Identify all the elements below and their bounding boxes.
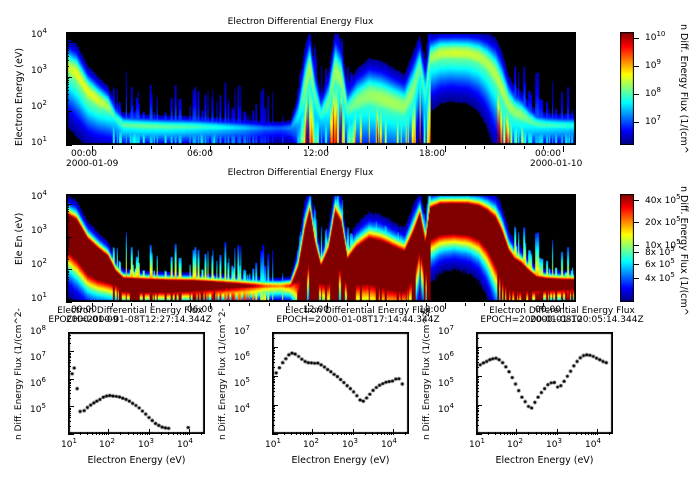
spectrum-2-xtick-1: 101	[265, 440, 281, 450]
axis-tick	[476, 429, 477, 435]
axis-tick	[269, 146, 270, 149]
axis-tick	[272, 425, 275, 426]
axis-tick	[476, 362, 479, 363]
axis-tick	[476, 417, 479, 418]
axis-tick	[149, 429, 150, 435]
axis-tick	[99, 432, 100, 435]
axis-tick	[66, 242, 69, 243]
axis-tick	[476, 356, 479, 357]
axis-tick	[66, 42, 72, 43]
axis-tick	[272, 396, 275, 397]
axis-tick	[68, 417, 71, 418]
axis-tick	[504, 432, 505, 435]
axis-tick	[595, 432, 596, 435]
axis-tick	[367, 146, 368, 149]
spectrum-3-xtick-1: 101	[469, 440, 485, 450]
axis-tick	[128, 432, 129, 435]
axis-tick	[563, 303, 564, 309]
axis-tick	[476, 367, 479, 368]
axis-tick	[68, 393, 71, 394]
axis-tick	[66, 211, 69, 212]
axis-tick	[68, 371, 71, 372]
axis-tick	[445, 303, 446, 309]
axis-tick	[291, 432, 292, 435]
spectrum-3-xtick-3: 103	[546, 440, 562, 450]
axis-tick	[288, 146, 289, 149]
axis-tick	[272, 406, 275, 407]
top-xtick-4: 00:00	[535, 149, 561, 159]
spectrum-2-ylabel: n Diff. Energy Flux (1/(cm^2-	[218, 308, 228, 440]
spectrum-3-ylabel: n Diff. Energy Flux (1/(cm^2-	[422, 308, 432, 440]
spectrum-1-epoch: EPOCH=2000-01-08T12:27:14.344Z	[20, 315, 240, 325]
axis-tick	[476, 376, 482, 377]
axis-tick	[609, 432, 610, 435]
axis-tick	[68, 409, 71, 410]
axis-tick	[327, 146, 328, 152]
top-xtick-2: 12:00	[303, 149, 329, 159]
axis-tick	[108, 429, 109, 435]
axis-tick	[112, 303, 113, 306]
axis-tick	[597, 429, 598, 435]
spectrum-3-plot[interactable]	[476, 332, 613, 434]
axis-tick	[66, 111, 72, 112]
middle-cbar-tick-6: 6x 105	[645, 260, 675, 270]
axis-tick	[476, 408, 479, 409]
axis-tick	[327, 303, 328, 309]
axis-tick	[68, 360, 71, 361]
axis-tick	[272, 411, 275, 412]
axis-tick	[272, 333, 275, 334]
middle-cbar-tick-4: 4x 105	[645, 274, 675, 284]
axis-tick	[66, 207, 69, 208]
axis-tick	[145, 432, 146, 435]
axis-tick	[476, 414, 479, 415]
axis-tick	[476, 352, 479, 353]
axis-tick	[272, 352, 275, 353]
axis-tick	[68, 426, 71, 427]
top-colorbar	[620, 32, 634, 145]
axis-tick	[68, 413, 71, 414]
axis-tick	[66, 118, 69, 119]
axis-tick	[92, 432, 93, 435]
axis-tick	[92, 303, 93, 309]
top-cbar-tick-10: 1010	[645, 33, 665, 43]
axis-tick	[161, 432, 162, 435]
axis-tick	[66, 112, 69, 113]
axis-tick	[476, 353, 479, 354]
axis-tick	[68, 380, 71, 381]
axis-tick	[210, 146, 211, 152]
axis-tick	[634, 278, 639, 279]
axis-tick	[367, 303, 368, 306]
axis-tick	[68, 390, 71, 391]
axis-tick	[106, 432, 107, 435]
middle-cbar-label-wrap: n Diff. Energy Flux (1/(cm^	[689, 186, 697, 197]
axis-tick	[66, 129, 69, 130]
top-ytick-3: 103	[31, 66, 47, 76]
axis-tick	[524, 146, 525, 149]
axis-tick	[68, 357, 71, 358]
axis-tick	[66, 221, 69, 222]
axis-tick	[465, 146, 466, 149]
axis-tick	[66, 66, 69, 67]
axis-tick	[332, 432, 333, 435]
axis-tick	[66, 269, 72, 270]
axis-tick	[576, 432, 577, 435]
top-cbar-tick-7: 107	[645, 117, 661, 127]
middle-spectrogram[interactable]	[66, 194, 576, 302]
axis-tick	[66, 135, 69, 136]
axis-tick	[272, 377, 275, 378]
axis-tick	[476, 338, 479, 339]
spectrum-1-xtick-3: 103	[138, 440, 154, 450]
axis-tick	[229, 146, 230, 149]
axis-tick	[68, 385, 71, 386]
axis-tick	[543, 146, 544, 149]
axis-tick	[484, 303, 485, 306]
axis-tick	[131, 303, 132, 306]
axis-tick	[66, 78, 69, 79]
axis-tick	[66, 100, 69, 101]
axis-tick	[68, 353, 71, 354]
axis-tick	[476, 410, 479, 411]
axis-tick	[303, 432, 304, 435]
spectrum-3-epoch: EPOCH=2000-01-08T20:05:14.344Z	[452, 315, 672, 325]
spectrum-2-xtick-4: 104	[381, 440, 397, 450]
axis-tick	[476, 377, 479, 378]
axis-tick	[171, 146, 172, 149]
axis-tick	[66, 204, 72, 205]
axis-tick	[66, 274, 69, 275]
axis-tick	[557, 429, 558, 435]
axis-tick	[349, 432, 350, 435]
axis-tick	[272, 388, 275, 389]
axis-tick	[351, 432, 352, 435]
middle-cbar-label: n Diff. Energy Flux (1/(cm^	[678, 186, 689, 316]
spectrum-1-ylabel-wrap: n Diff. Energy Flux (1/(cm^2-	[14, 440, 146, 450]
axis-tick	[634, 200, 639, 201]
middle-ytick-4: 104	[31, 192, 47, 202]
axis-tick	[272, 353, 275, 354]
spectrum-2-xtick-3: 103	[342, 440, 358, 450]
axis-tick	[300, 432, 301, 435]
axis-tick	[68, 411, 71, 412]
axis-tick	[634, 222, 639, 223]
axis-tick	[249, 146, 250, 149]
axis-tick	[324, 432, 325, 435]
axis-tick	[406, 303, 407, 306]
axis-tick	[306, 432, 307, 435]
axis-tick	[68, 408, 71, 409]
spectrum-1-xtick-1: 101	[61, 440, 77, 450]
axis-tick	[634, 252, 639, 253]
spectrum-3-xtick-4: 104	[585, 440, 601, 450]
middle-cbar-tick-40: 40x 105	[645, 196, 681, 206]
axis-tick	[634, 94, 639, 95]
axis-tick	[229, 303, 230, 306]
spectrum-1-ytick-8: 108	[30, 327, 46, 337]
axis-tick	[476, 425, 479, 426]
axis-tick	[524, 303, 525, 306]
axis-tick	[137, 432, 138, 435]
top-spectrogram[interactable]	[66, 32, 576, 145]
axis-tick	[102, 432, 103, 435]
axis-tick	[272, 410, 275, 411]
axis-tick	[426, 146, 427, 149]
axis-tick	[87, 432, 88, 435]
axis-tick	[593, 432, 594, 435]
axis-tick	[591, 432, 592, 435]
axis-tick	[284, 432, 285, 435]
axis-tick	[310, 432, 311, 435]
spectrum-2-ytick-7: 107	[234, 327, 250, 337]
axis-tick	[272, 379, 275, 380]
axis-tick	[68, 338, 71, 339]
axis-tick	[500, 432, 501, 435]
axis-tick	[66, 292, 69, 293]
axis-tick	[133, 432, 134, 435]
spectrum-1-xtick-4: 104	[177, 440, 193, 450]
axis-tick	[66, 209, 69, 210]
axis-tick	[272, 417, 275, 418]
axis-tick	[201, 432, 202, 435]
axis-tick	[384, 432, 385, 435]
axis-tick	[68, 351, 74, 352]
axis-tick	[151, 146, 152, 149]
axis-tick	[68, 366, 71, 367]
spectrum-3-ytick-4: 104	[438, 405, 454, 415]
axis-tick	[543, 303, 544, 306]
axis-tick	[581, 432, 582, 435]
axis-tick	[68, 382, 71, 383]
axis-tick	[249, 303, 250, 306]
axis-tick	[185, 432, 186, 435]
axis-tick	[381, 432, 382, 435]
middle-panel-ylabel: Ele En (eV)	[14, 213, 25, 265]
axis-tick	[512, 432, 513, 435]
axis-tick	[272, 362, 275, 363]
top-panel-title: Electron Differential Energy Flux	[0, 17, 601, 27]
axis-tick	[308, 146, 309, 149]
axis-tick	[66, 82, 69, 83]
axis-tick	[66, 77, 72, 78]
axis-tick	[189, 429, 190, 435]
axis-tick	[104, 432, 105, 435]
top-cbar-label-wrap: n Diff. Energy Flux (1/(cm^	[689, 24, 697, 35]
axis-tick	[66, 237, 72, 238]
top-cbar-tick-9: 109	[645, 61, 661, 71]
middle-colorbar	[620, 194, 634, 302]
axis-tick	[68, 429, 69, 435]
axis-tick	[66, 124, 69, 125]
spectrum-2-ylabel-wrap: n Diff. Energy Flux (1/(cm^2-	[218, 440, 350, 450]
axis-tick	[68, 421, 71, 422]
middle-ytick-3: 103	[31, 226, 47, 236]
axis-tick	[504, 303, 505, 306]
axis-tick	[372, 432, 373, 435]
axis-tick	[66, 240, 69, 241]
axis-tick	[510, 432, 511, 435]
spectrum-3-ytick-6: 106	[438, 353, 454, 363]
spectrum-1-ytick-7: 107	[30, 353, 46, 363]
axis-tick	[272, 367, 275, 368]
top-panel-ylabel: Electron Energy (eV)	[14, 48, 25, 146]
axis-tick	[66, 282, 69, 283]
spectrum-2-plot[interactable]	[272, 332, 409, 434]
axis-tick	[68, 383, 71, 384]
axis-tick	[68, 406, 74, 407]
axis-tick	[555, 432, 556, 435]
axis-tick	[347, 146, 348, 149]
axis-tick	[528, 432, 529, 435]
axis-tick	[68, 379, 74, 380]
axis-tick	[391, 432, 392, 435]
axis-tick	[66, 277, 69, 278]
axis-tick	[634, 122, 639, 123]
axis-tick	[66, 286, 69, 287]
spectrum-1-xtick-2: 102	[99, 440, 115, 450]
axis-tick	[476, 382, 479, 383]
axis-tick	[272, 420, 275, 421]
axis-tick	[495, 432, 496, 435]
axis-tick	[96, 432, 97, 435]
spectrum-3-ytick-7: 107	[438, 327, 454, 337]
axis-tick	[296, 432, 297, 435]
axis-tick	[308, 303, 309, 306]
axis-tick	[120, 432, 121, 435]
axis-tick	[387, 432, 388, 435]
spectrum-2-ytick-6: 106	[234, 353, 250, 363]
spectrum-2-epoch: EPOCH=2000-01-08T17:14:44.344Z	[248, 315, 468, 325]
axis-tick	[553, 432, 554, 435]
axis-tick	[66, 254, 69, 255]
axis-tick	[476, 359, 479, 360]
axis-tick	[426, 303, 427, 306]
spectrum-1-plot[interactable]	[68, 332, 205, 434]
spectrum-1-xlabel: Electron Energy (eV)	[68, 455, 205, 466]
axis-tick	[66, 205, 69, 206]
axis-tick	[66, 94, 69, 95]
axis-tick	[341, 432, 342, 435]
axis-tick	[507, 432, 508, 435]
middle-ytick-2: 102	[31, 260, 47, 270]
axis-tick	[66, 250, 69, 251]
axis-tick	[585, 432, 586, 435]
axis-tick	[168, 432, 169, 435]
axis-tick	[272, 350, 275, 351]
top-panel-ylabel-wrap: Electron Energy (eV)	[14, 146, 112, 157]
axis-tick	[66, 227, 69, 228]
axis-tick	[377, 432, 378, 435]
axis-tick	[66, 56, 69, 57]
axis-tick	[272, 347, 278, 348]
axis-tick	[66, 279, 69, 280]
axis-tick	[272, 385, 275, 386]
axis-tick	[476, 405, 482, 406]
spectrum-1-ytick-5: 105	[30, 405, 46, 415]
axis-tick	[504, 146, 505, 149]
axis-tick	[66, 302, 72, 303]
axis-tick	[445, 146, 446, 152]
axis-tick	[68, 354, 71, 355]
axis-tick	[288, 303, 289, 306]
axis-tick	[272, 348, 275, 349]
axis-tick	[66, 121, 69, 122]
axis-tick	[272, 391, 275, 392]
axis-tick	[389, 432, 390, 435]
axis-tick	[66, 145, 72, 146]
axis-tick	[548, 432, 549, 435]
axis-tick	[66, 48, 69, 49]
axis-tick	[634, 38, 639, 39]
axis-tick	[353, 429, 354, 435]
axis-tick	[80, 432, 81, 435]
axis-tick	[68, 332, 71, 333]
top-ytick-4: 104	[31, 30, 47, 40]
axis-tick	[66, 60, 69, 61]
axis-tick	[131, 146, 132, 149]
axis-tick	[272, 382, 275, 383]
axis-tick	[476, 411, 479, 412]
axis-tick	[68, 335, 71, 336]
axis-tick	[66, 84, 69, 85]
axis-tick	[66, 246, 69, 247]
axis-tick	[66, 46, 69, 47]
axis-tick	[66, 194, 69, 195]
axis-tick	[147, 432, 148, 435]
axis-tick	[68, 343, 71, 344]
axis-tick	[386, 303, 387, 306]
axis-tick	[187, 432, 188, 435]
axis-tick	[634, 245, 639, 246]
middle-ytick-1: 101	[31, 294, 47, 304]
axis-tick	[66, 114, 69, 115]
axis-tick	[634, 264, 639, 265]
axis-tick	[272, 408, 275, 409]
axis-tick	[66, 259, 69, 260]
spectrum-2-xlabel: Electron Energy (eV)	[272, 455, 409, 466]
spectrum-1-ylabel: n Diff. Energy Flux (1/(cm^2-	[14, 308, 24, 440]
axis-tick	[68, 398, 71, 399]
spectrum-1-ytick-6: 106	[30, 379, 46, 389]
top-xtick-3: 18:00	[419, 149, 445, 159]
axis-tick	[66, 238, 69, 239]
axis-tick	[536, 432, 537, 435]
axis-tick	[66, 214, 69, 215]
axis-tick	[476, 406, 479, 407]
axis-tick	[476, 396, 479, 397]
axis-tick	[476, 420, 479, 421]
spectrum-2-xtick-2: 102	[303, 440, 319, 450]
axis-tick	[66, 90, 69, 91]
axis-tick	[516, 429, 517, 435]
axis-tick	[347, 303, 348, 306]
axis-tick	[465, 303, 466, 306]
axis-tick	[210, 303, 211, 309]
axis-tick	[406, 146, 407, 149]
axis-tick	[66, 80, 69, 81]
axis-tick	[180, 432, 181, 435]
spectrum-2-ytick-4: 104	[234, 405, 250, 415]
axis-tick	[634, 66, 639, 67]
axis-tick	[66, 272, 69, 273]
axis-tick	[514, 432, 515, 435]
axis-tick	[337, 432, 338, 435]
axis-tick	[66, 32, 69, 33]
axis-tick	[66, 50, 69, 51]
axis-tick	[68, 356, 71, 357]
axis-tick	[488, 432, 489, 435]
